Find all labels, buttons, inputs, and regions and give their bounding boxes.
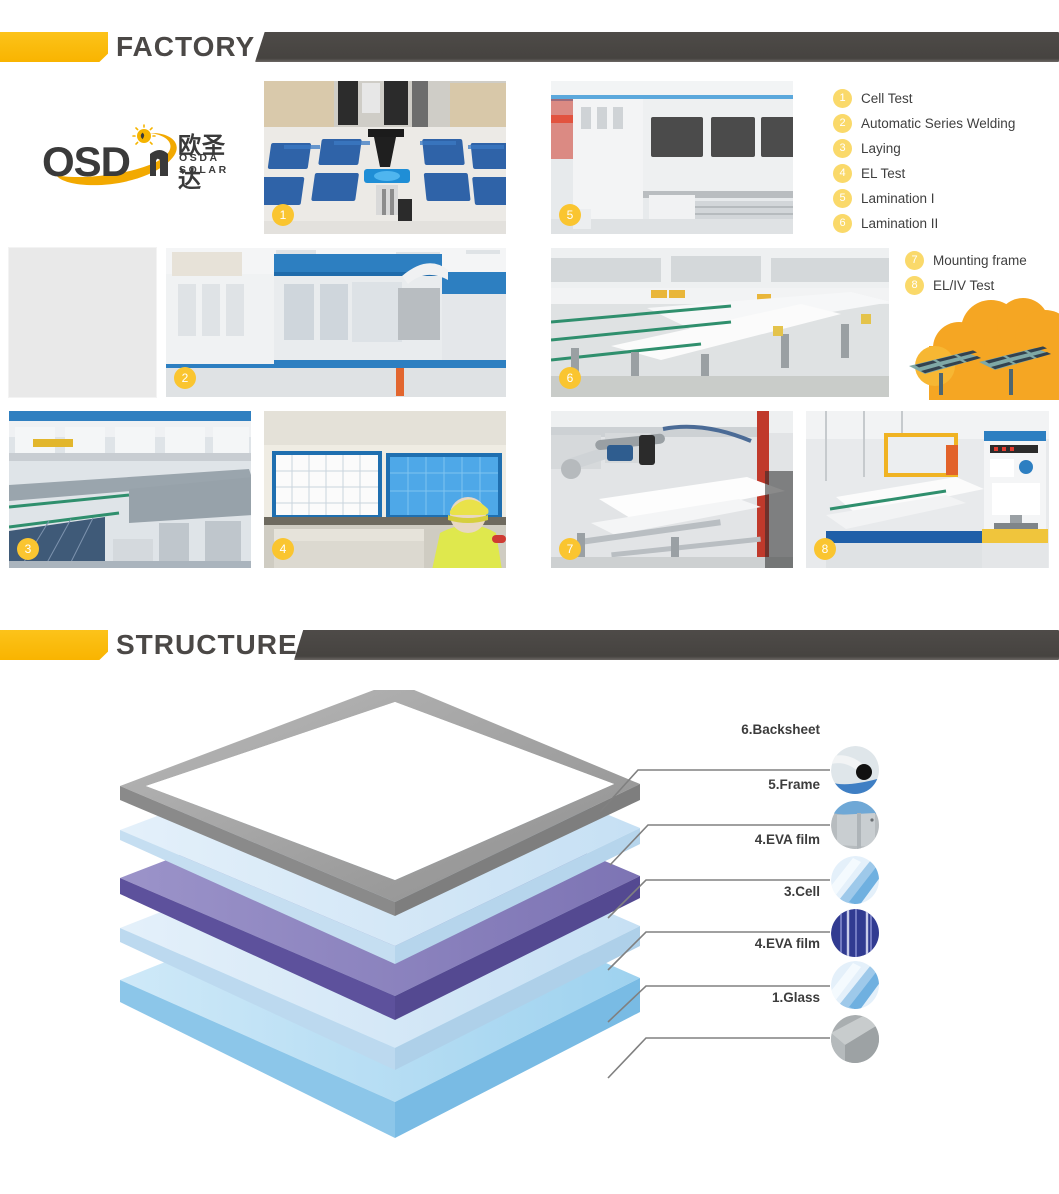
photo-2-artwork (166, 248, 507, 398)
legend-item: 3 Laying (833, 136, 1015, 161)
layer-thumb-frame (830, 800, 880, 850)
legend-number: 1 (833, 89, 852, 108)
heading-dark-bar (294, 630, 1059, 660)
legend-number: 7 (905, 251, 924, 270)
photo-badge: 4 (272, 538, 294, 560)
photo-4-artwork (264, 411, 507, 569)
factory-photo-4[interactable]: 4 (263, 410, 507, 569)
legend-label: Lamination II (861, 216, 938, 231)
legend-label: EL Test (861, 166, 905, 181)
legend-number: 5 (833, 189, 852, 208)
legend-number: 6 (833, 214, 852, 233)
page-title: FACTORY (116, 26, 255, 68)
photo-5-artwork (551, 81, 794, 235)
page-root: FACTORY OSD (0, 0, 1059, 1194)
heading-accent-bar (0, 630, 108, 660)
photo-badge: 7 (559, 538, 581, 560)
factory-photo-3[interactable]: 3 (8, 410, 252, 569)
layer-thumb-eva-top (830, 855, 880, 905)
factory-photo-1[interactable]: 1 (263, 80, 507, 235)
legend-item: 6 Lamination II (833, 211, 1015, 236)
factory-legend-primary: 1 Cell Test 2 Automatic Series Welding 3… (833, 86, 1015, 236)
section-title-structure: STRUCTURE (116, 624, 298, 666)
layer-label-frame: 5.Frame (640, 777, 820, 792)
legend-number: 2 (833, 114, 852, 133)
layer-label-backsheet: 6.Backsheet (640, 722, 820, 737)
legend-item: 5 Lamination I (833, 186, 1015, 211)
photo-8-artwork (806, 411, 1050, 569)
photo-badge: 5 (559, 204, 581, 226)
photo-1-artwork (264, 81, 507, 235)
legend-number: 3 (833, 139, 852, 158)
photo-badge: 8 (814, 538, 836, 560)
legend-label: EL/IV Test (933, 278, 994, 293)
layer-thumb-backsheet (830, 745, 880, 795)
photo-6-artwork (551, 248, 890, 398)
layer-label-cell: 3.Cell (640, 884, 820, 899)
factory-photo-7[interactable]: 7 (550, 410, 794, 569)
logo-tagline: OSDA SOLAR (179, 152, 248, 176)
photo-badge: 1 (272, 204, 294, 226)
heading-accent-bar (0, 32, 108, 62)
image-placeholder (8, 247, 157, 398)
section-header-factory: FACTORY (0, 26, 1059, 68)
photo-badge: 3 (17, 538, 39, 560)
exploded-layers (0, 690, 1059, 1160)
factory-legend-secondary: 7 Mounting frame 8 EL/IV Test (905, 248, 1027, 298)
module-structure-diagram: 6.Backsheet 5.Frame 4.EVA film 3.Cell 4.… (0, 690, 1059, 1160)
layer-label-eva-top: 4.EVA film (640, 832, 820, 847)
photo-badge: 6 (559, 367, 581, 389)
layer-thumb-eva-bottom (830, 960, 880, 1010)
layer-thumb-cell (830, 908, 880, 958)
layer-label-eva-bottom: 4.EVA film (640, 936, 820, 951)
legend-number: 8 (905, 276, 924, 295)
legend-label: Cell Test (861, 91, 913, 106)
svg-text:OSD: OSD (42, 138, 130, 185)
legend-item: 1 Cell Test (833, 86, 1015, 111)
solar-panel-illustration (895, 296, 1059, 400)
layer-thumb-glass (830, 1014, 880, 1064)
factory-photo-6[interactable]: 6 (550, 247, 890, 398)
legend-label: Lamination I (861, 191, 935, 206)
factory-photo-2[interactable]: 2 (165, 247, 507, 398)
legend-item: 7 Mounting frame (905, 248, 1027, 273)
legend-number: 4 (833, 164, 852, 183)
legend-item: 8 EL/IV Test (905, 273, 1027, 298)
legend-item: 2 Automatic Series Welding (833, 111, 1015, 136)
factory-photo-5[interactable]: 5 (550, 80, 794, 235)
heading-dark-bar (255, 32, 1059, 62)
logo: OSD 欧圣达 OSDA SOLAR (38, 120, 248, 190)
photo-badge: 2 (174, 367, 196, 389)
factory-photo-8[interactable]: 8 (805, 410, 1050, 569)
legend-item: 4 EL Test (833, 161, 1015, 186)
photo-3-artwork (9, 411, 252, 569)
photo-7-artwork (551, 411, 794, 569)
legend-label: Mounting frame (933, 253, 1027, 268)
section-header-structure: STRUCTURE (0, 624, 1059, 666)
legend-label: Automatic Series Welding (861, 116, 1015, 131)
layer-label-glass: 1.Glass (640, 990, 820, 1005)
legend-label: Laying (861, 141, 901, 156)
